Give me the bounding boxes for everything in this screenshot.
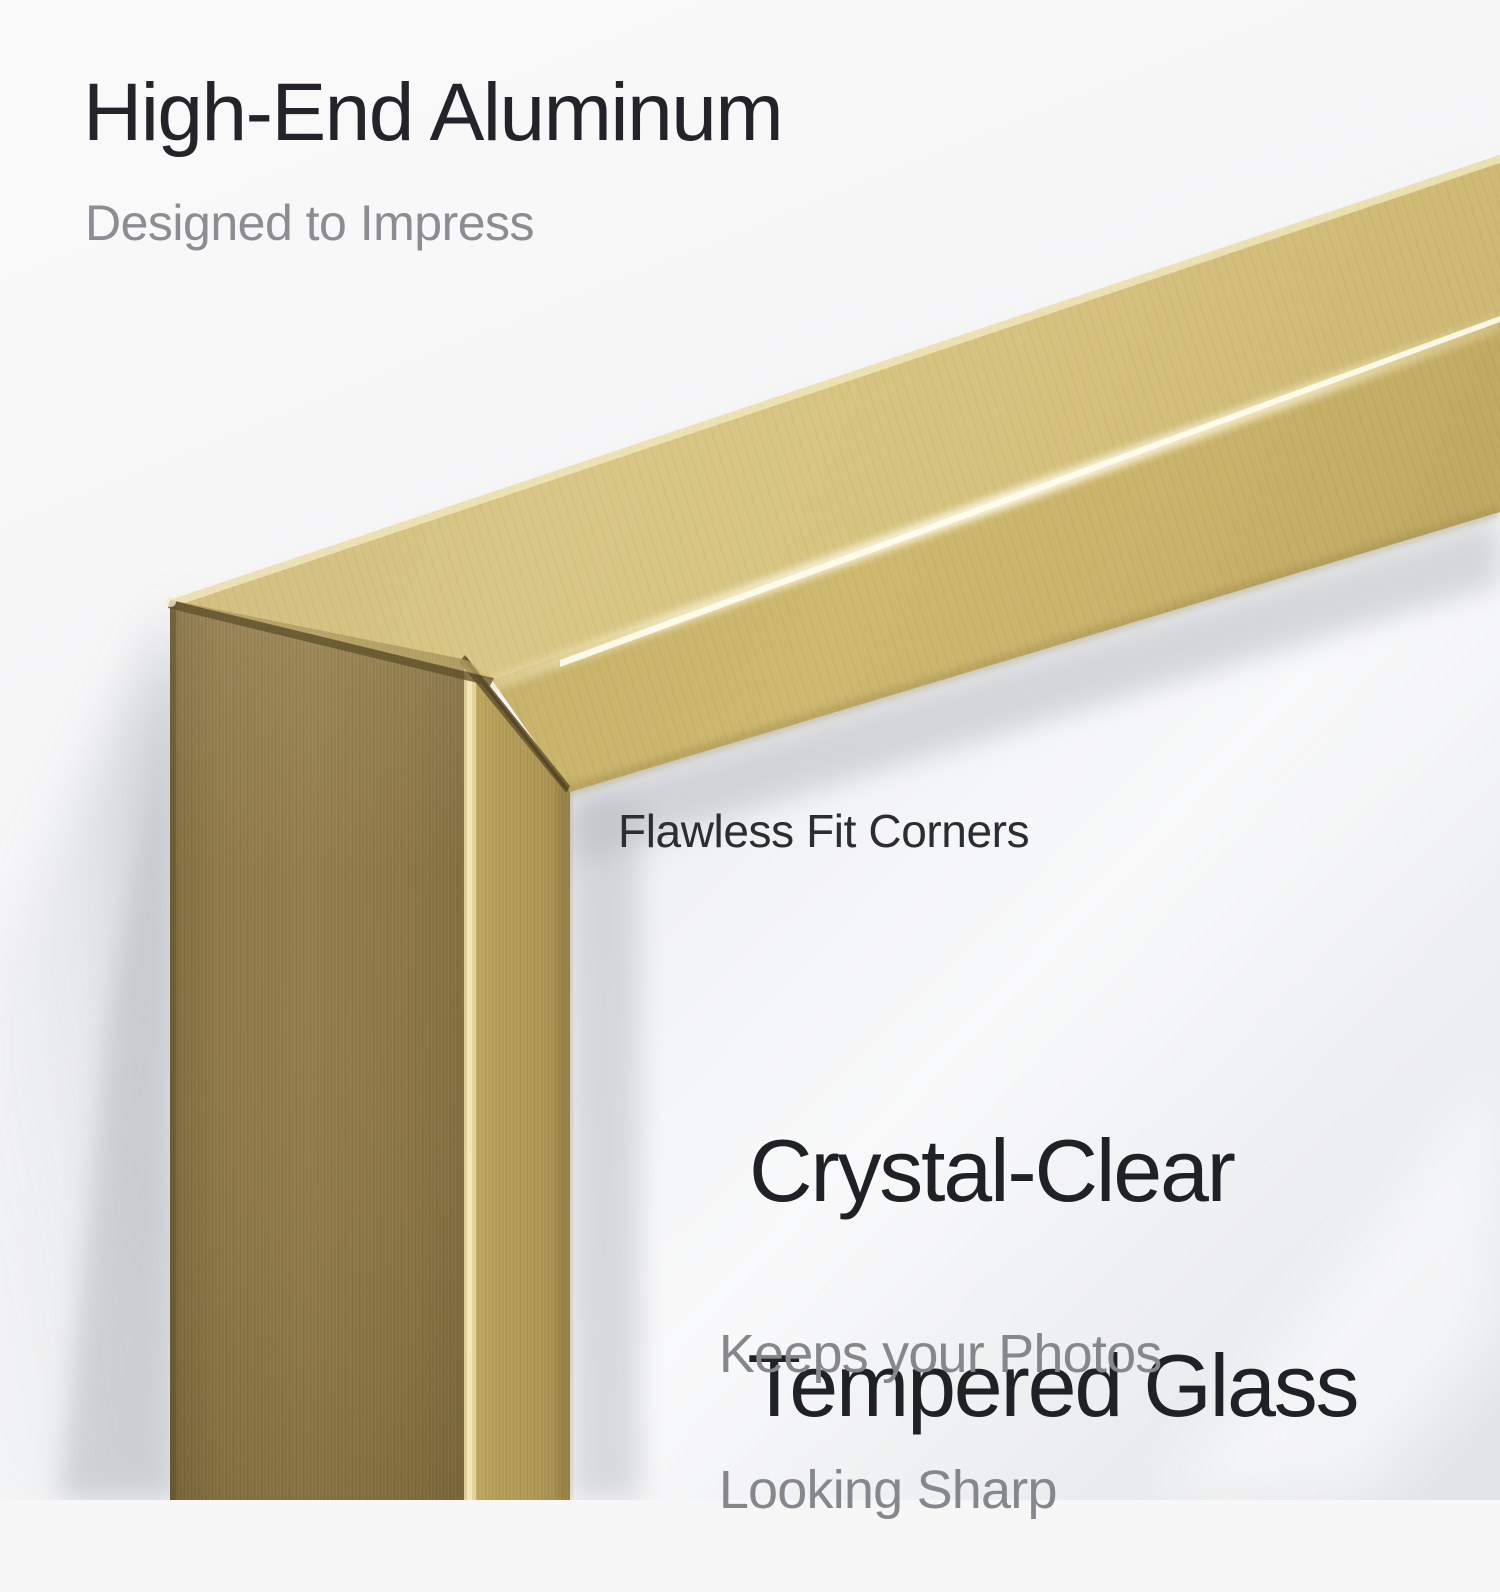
left-stile: [170, 600, 570, 1500]
glass-subtitle-line-1: Keeps your Photos: [719, 1324, 1162, 1384]
glass-subtitle-line-2: Looking Sharp: [719, 1460, 1057, 1520]
product-hero-image: High-End Aluminum Designed to Impress Fl…: [0, 0, 1500, 1500]
callout-flawless-fit-corners: Flawless Fit Corners: [618, 808, 1029, 854]
glass-feature-subtitle: Keeps your Photos Looking Sharp: [662, 1252, 1162, 1592]
glass-title-line-1: Crystal-Clear: [749, 1121, 1234, 1220]
page-subtitle: Designed to Impress: [85, 198, 534, 248]
page-title: High-End Aluminum: [83, 72, 782, 154]
